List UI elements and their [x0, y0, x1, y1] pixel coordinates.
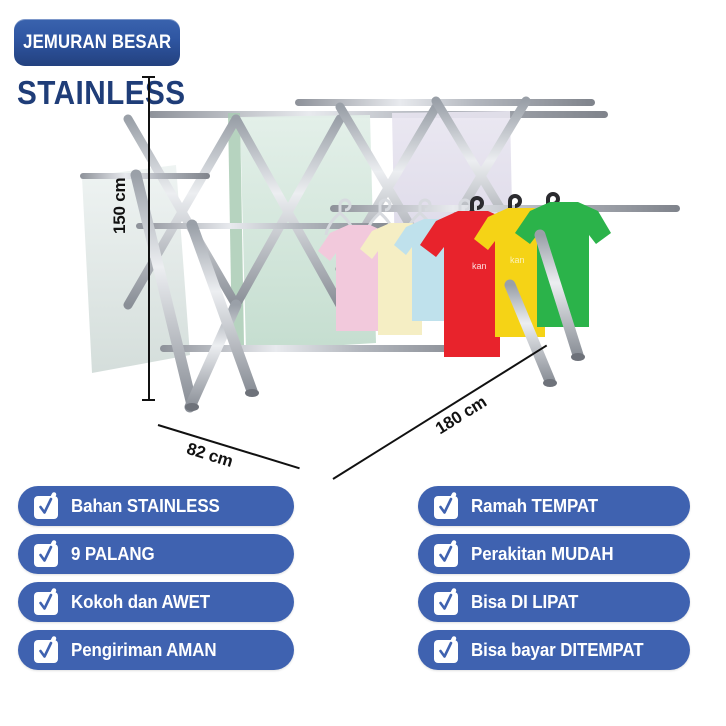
checkbox-checked-icon: [433, 494, 458, 519]
feature-label: Ramah TEMPAT: [471, 496, 598, 517]
height-cap-bottom: [142, 399, 155, 401]
feature-item-9-palang: 9 PALANG: [18, 534, 294, 574]
checkbox-checked-icon: [33, 590, 58, 615]
svg-text:kan: kan: [510, 255, 525, 265]
feature-item-bahan-stainless: Bahan STAINLESS: [18, 486, 294, 526]
feature-label: Kokoh dan AWET: [71, 592, 210, 613]
checkbox-checked-icon: [33, 542, 58, 567]
feature-item-pengiriman-aman: Pengiriman AMAN: [18, 630, 294, 670]
feature-item-perakitan-mudah: Perakitan MUDAH: [418, 534, 690, 574]
checkbox-checked-icon: [433, 638, 458, 663]
feature-label: Perakitan MUDAH: [471, 544, 613, 565]
checkbox-checked-icon: [33, 638, 58, 663]
product-listing-image: JEMURAN BESAR STAINLESS: [0, 0, 726, 726]
checkbox-checked-icon: [433, 542, 458, 567]
feature-label: 9 PALANG: [71, 544, 155, 565]
svg-text:kan: kan: [472, 261, 487, 271]
feature-item-bisa-bayar-ditempat: Bisa bayar DITEMPAT: [418, 630, 690, 670]
checkbox-checked-icon: [33, 494, 58, 519]
height-dimension-line: [148, 76, 150, 401]
height-cap-top: [142, 76, 155, 78]
product-photo: kan kan: [40, 55, 700, 455]
checkbox-checked-icon: [433, 590, 458, 615]
height-dimension-label: 150 cm: [110, 178, 130, 234]
product-category-badge-label: JEMURAN BESAR: [23, 32, 171, 54]
feature-item-kokoh-dan-awet: Kokoh dan AWET: [18, 582, 294, 622]
feature-label: Bahan STAINLESS: [71, 496, 220, 517]
rack-top-rail: [148, 99, 608, 118]
feature-label: Bisa DI LIPAT: [471, 592, 578, 613]
feature-label: Pengiriman AMAN: [71, 640, 217, 661]
feature-item-bisa-di-lipat: Bisa DI LIPAT: [418, 582, 690, 622]
feature-item-ramah-tempat: Ramah TEMPAT: [418, 486, 690, 526]
feature-label: Bisa bayar DITEMPAT: [471, 640, 643, 661]
